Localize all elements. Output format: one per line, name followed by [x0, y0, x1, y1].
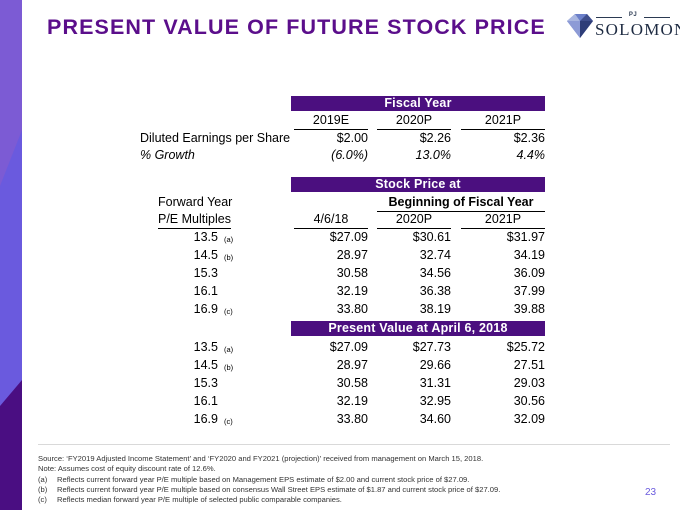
stock-price-subheader: Beginning of Fiscal Year	[377, 195, 545, 212]
pv-pe-2: 15.3	[168, 376, 218, 391]
pv-pe-0: 13.5	[168, 340, 218, 355]
pv-cell-4-0: 33.80	[294, 412, 368, 427]
stock-col-header-2: 2021P	[461, 212, 545, 229]
pv-cell-0-1: $27.73	[377, 340, 451, 355]
pv-pe-3: 16.1	[168, 394, 218, 409]
pv-footnote-mark-4: (c)	[224, 414, 233, 429]
footnote-text-a: Reflects current forward year P/E multip…	[57, 475, 469, 485]
stock-col-header-1: 2020P	[377, 212, 451, 229]
stock-cell-0-0: $27.09	[294, 230, 368, 245]
stock-price-banner: Stock Price at	[291, 177, 545, 192]
footnote-text-c: Reflects median forward year P/E multipl…	[57, 495, 342, 505]
eps-cell-1-0: (6.0%)	[294, 148, 368, 163]
stock-cell-4-0: 33.80	[294, 302, 368, 317]
stock-cell-1-2: 34.19	[461, 248, 545, 263]
stock-cell-0-1: $30.61	[377, 230, 451, 245]
stock-pe-1: 14.5	[168, 248, 218, 263]
eps-cell-1-2: 4.4%	[461, 148, 545, 163]
pv-pe-4: 16.9	[168, 412, 218, 427]
pv-cell-3-1: 32.95	[377, 394, 451, 409]
stock-cell-4-1: 38.19	[377, 302, 451, 317]
present-value-banner: Present Value at April 6, 2018	[291, 321, 545, 336]
stock-cell-1-1: 32.74	[377, 248, 451, 263]
pv-footnote-mark-0: (a)	[224, 342, 233, 357]
stock-pe-3: 16.1	[168, 284, 218, 299]
eps-col-header-2: 2021P	[461, 113, 545, 130]
page-number: 23	[645, 487, 656, 498]
stock-pe-0: 13.5	[168, 230, 218, 245]
fiscal-year-banner: Fiscal Year	[291, 96, 545, 111]
stock-cell-3-2: 37.99	[461, 284, 545, 299]
footnote-source: Source: ‘FY2019 Adjusted Income Statemen…	[38, 454, 483, 464]
stock-cell-3-1: 36.38	[377, 284, 451, 299]
logo-initials: PJ	[596, 11, 670, 20]
pv-pe-1: 14.5	[168, 358, 218, 373]
pv-cell-2-1: 31.31	[377, 376, 451, 391]
stock-cell-2-0: 30.58	[294, 266, 368, 281]
pv-cell-1-0: 28.97	[294, 358, 368, 373]
stock-footnote-mark-4: (c)	[224, 304, 233, 319]
eps-col-header-1: 2020P	[377, 113, 451, 130]
eps-col-header-0: 2019E	[294, 113, 368, 130]
stock-footnote-mark-0: (a)	[224, 232, 233, 247]
footnote-tag-c: (c)	[38, 495, 47, 505]
eps-row-label-0: Diluted Earnings per Share	[140, 131, 290, 145]
eps-cell-0-2: $2.36	[461, 131, 545, 146]
stock-pe-2: 15.3	[168, 266, 218, 281]
pv-cell-0-0: $27.09	[294, 340, 368, 355]
pv-cell-3-0: 32.19	[294, 394, 368, 409]
slide-accent-strip	[0, 0, 22, 510]
diamond-gem-icon	[567, 14, 593, 38]
pv-cell-1-1: 29.66	[377, 358, 451, 373]
footnote-tag-a: (a)	[38, 475, 47, 485]
pv-cell-0-2: $25.72	[461, 340, 545, 355]
stock-pe-4: 16.9	[168, 302, 218, 317]
footnote-note: Note: Assumes cost of equity discount ra…	[38, 464, 216, 474]
stub-line-1: Forward Year	[158, 195, 232, 209]
stock-col-header-0: 4/6/18	[294, 212, 368, 229]
pv-cell-3-2: 30.56	[461, 394, 545, 409]
stock-cell-3-0: 32.19	[294, 284, 368, 299]
pv-cell-4-1: 34.60	[377, 412, 451, 427]
stock-cell-2-2: 36.09	[461, 266, 545, 281]
stock-cell-1-0: 28.97	[294, 248, 368, 263]
footer-divider	[38, 444, 670, 445]
company-logo: PJ SOLOMON	[567, 11, 671, 43]
stock-cell-4-2: 39.88	[461, 302, 545, 317]
eps-row-label-1: % Growth	[140, 148, 195, 162]
stock-footnote-mark-1: (b)	[224, 250, 233, 265]
pv-cell-1-2: 27.51	[461, 358, 545, 373]
eps-cell-0-1: $2.26	[377, 131, 451, 146]
eps-cell-1-1: 13.0%	[377, 148, 451, 163]
eps-cell-0-0: $2.00	[294, 131, 368, 146]
footnote-text-b: Reflects current forward year P/E multip…	[57, 485, 500, 495]
pv-cell-2-0: 30.58	[294, 376, 368, 391]
stock-cell-2-1: 34.56	[377, 266, 451, 281]
logo-wordmark: SOLOMON	[595, 20, 680, 40]
stub-line-2: P/E Multiples	[158, 212, 231, 229]
slide-title: PRESENT VALUE OF FUTURE STOCK PRICE	[47, 15, 546, 40]
stock-cell-0-2: $31.97	[461, 230, 545, 245]
pv-cell-4-2: 32.09	[461, 412, 545, 427]
pv-footnote-mark-1: (b)	[224, 360, 233, 375]
footnote-tag-b: (b)	[38, 485, 47, 495]
pv-cell-2-2: 29.03	[461, 376, 545, 391]
